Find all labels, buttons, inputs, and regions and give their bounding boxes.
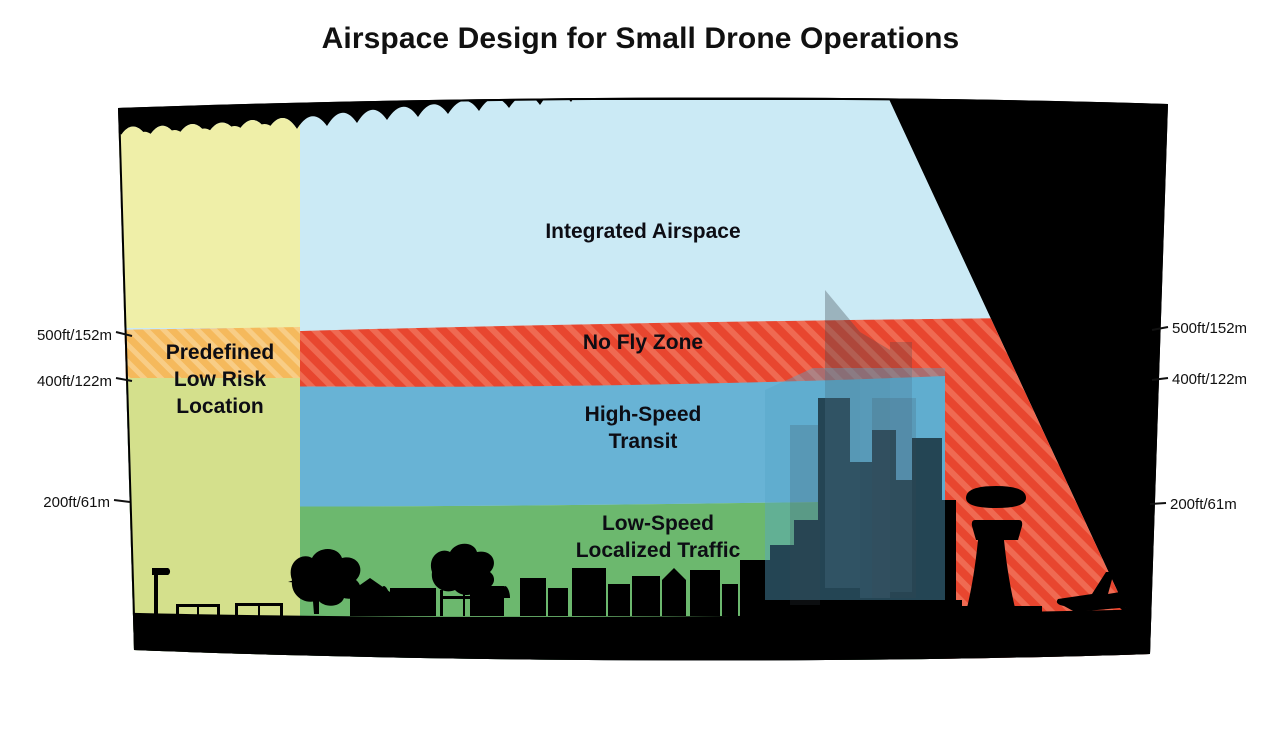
axis-tick-left-200: [114, 500, 130, 502]
zone-label-low-speed-line1: Low-Speed: [602, 512, 714, 535]
house-icon: [470, 586, 504, 616]
zone-label-no-fly-zone: No Fly Zone: [583, 331, 703, 354]
airspace-figure: Integrated Airspace No Fly Zone High-Spe…: [0, 0, 1281, 738]
axis-label-right-400: 400ft/122m: [1172, 371, 1247, 388]
keep-out-volume-small: [790, 425, 820, 605]
axis-label-left-200: 200ft/61m: [43, 494, 110, 511]
axis-label-right-500: 500ft/152m: [1172, 320, 1247, 337]
zone-label-low-speed-line2: Localized Traffic: [576, 539, 741, 562]
zone-label-high-speed-transit-line2: Transit: [609, 430, 678, 453]
zone-label-high-speed-transit-line1: High-Speed: [585, 403, 702, 426]
keep-out-volume-small-2: [872, 398, 916, 598]
zone-label-integrated-airspace: Integrated Airspace: [545, 220, 740, 243]
axis-label-left-400: 400ft/122m: [37, 373, 112, 390]
axis-label-left-500: 500ft/152m: [37, 327, 112, 344]
axis-tick-right-200: [1150, 503, 1166, 504]
zone-label-low-risk-line1: Predefined: [166, 341, 275, 364]
zone-label-low-risk-line3: Location: [176, 395, 264, 418]
zone-label-low-risk-line2: Low Risk: [174, 368, 267, 391]
axis-label-right-200: 200ft/61m: [1170, 496, 1237, 513]
diagram-canvas: Airspace Design for Small Drone Operatio…: [0, 0, 1281, 738]
